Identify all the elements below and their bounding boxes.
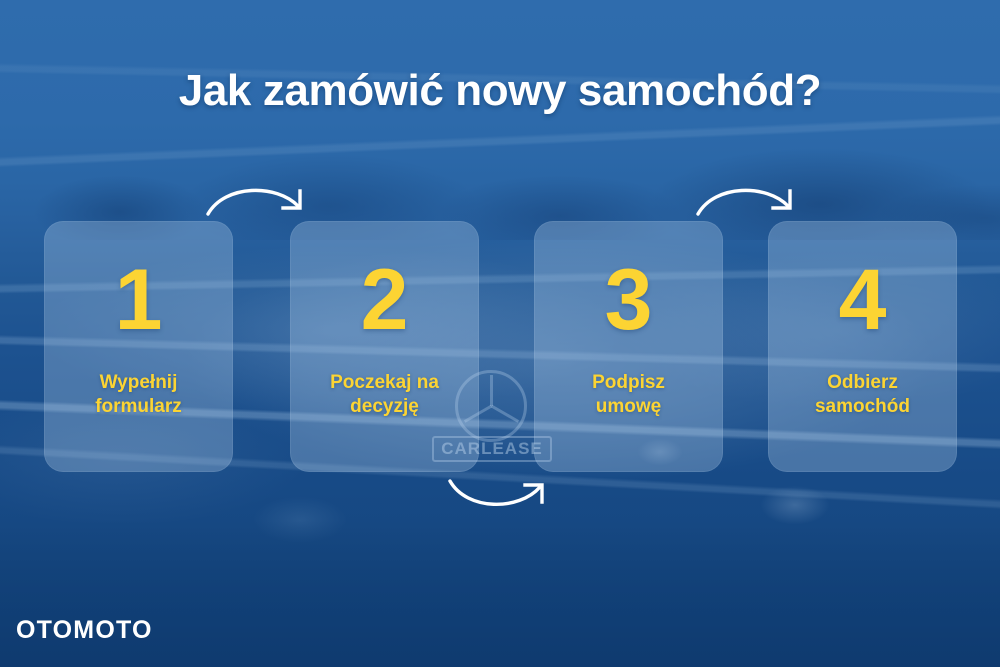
step-label-4: Odbierz samochód [805,371,920,420]
step-card-2[interactable]: 2 Poczekaj na decyzję [290,221,479,472]
steps-container: 1 Wypełnij formularz 2 Poczekaj na decyz… [0,0,1000,667]
step-card-1[interactable]: 1 Wypełnij formularz [44,221,233,472]
infographic-canvas: CARLEASE Jak zamówić nowy samochód? 1 Wy… [0,0,1000,667]
step-label-1: Wypełnij formularz [85,371,192,420]
step-number-4: 4 [839,257,887,343]
step-number-1: 1 [115,257,163,343]
step-label-2: Poczekaj na decyzję [320,371,449,420]
step-card-4[interactable]: 4 Odbierz samochód [768,221,957,472]
step-label-3: Podpisz umowę [582,371,675,420]
step-number-2: 2 [361,257,409,343]
step-card-3[interactable]: 3 Podpisz umowę [534,221,723,472]
otomoto-logo[interactable]: OTOMOTO [16,616,153,645]
step-number-3: 3 [605,257,653,343]
